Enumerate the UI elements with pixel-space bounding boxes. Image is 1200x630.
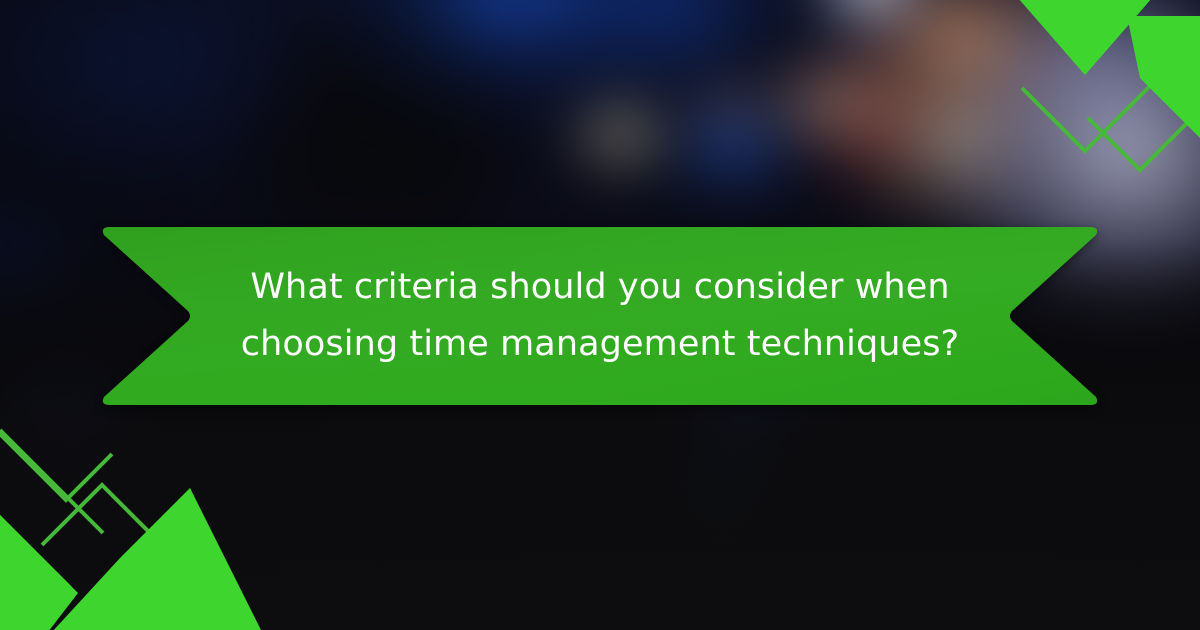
social-quote-card: What criteria should you consider when c… (0, 0, 1200, 630)
quote-headline: What criteria should you consider when c… (100, 227, 1100, 405)
quote-ribbon-banner: What criteria should you consider when c… (100, 227, 1100, 405)
